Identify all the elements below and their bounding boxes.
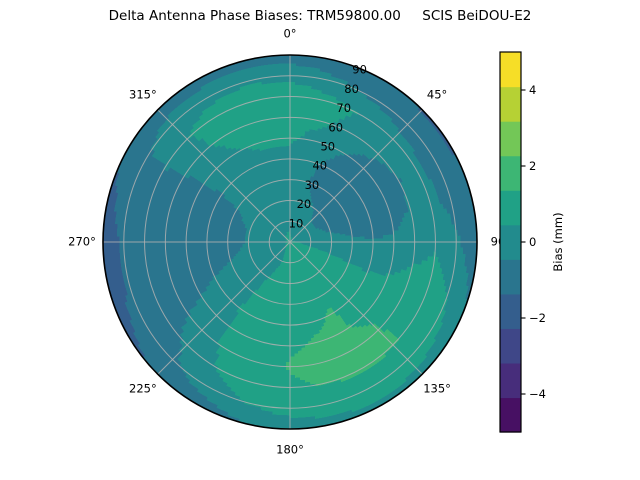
colorbar-band — [500, 121, 521, 156]
radial-tick-20: 20 — [297, 197, 312, 211]
radial-tick-70: 70 — [336, 101, 351, 115]
colorbar-band — [500, 225, 521, 260]
colorbar-band — [500, 87, 521, 122]
colorbar-band — [500, 259, 521, 294]
theta-tick-270: 270° — [68, 235, 96, 249]
colorbar-tick-label-0: 0 — [529, 235, 536, 249]
theta-tick-45: 45° — [427, 87, 447, 101]
colorbar-band — [500, 294, 521, 329]
theta-tick-0: 0° — [283, 27, 296, 41]
polar-grid — [103, 55, 477, 429]
theta-tick-180: 180° — [276, 443, 304, 457]
radial-tick-90: 90 — [352, 63, 367, 77]
radial-tick-10: 10 — [289, 216, 304, 230]
page-title: Delta Antenna Phase Biases: TRM59800.00 … — [0, 8, 640, 24]
colorbar-band — [500, 328, 521, 363]
colorbar: 420−2−4 — [500, 52, 546, 433]
colorbar-band — [500, 52, 521, 87]
colorbar-tick-label-2: 2 — [529, 159, 536, 173]
colorbar-tick-label-neg4: −4 — [529, 387, 546, 401]
radial-tick-60: 60 — [328, 120, 343, 134]
theta-tick-225: 225° — [129, 382, 157, 396]
colorbar-tick-label-4: 4 — [529, 83, 536, 97]
theta-tick-135: 135° — [423, 382, 451, 396]
colorbar-band — [500, 363, 521, 398]
radial-tick-40: 40 — [312, 159, 327, 173]
colorbar-tick-label-neg2: −2 — [529, 311, 546, 325]
colorbar-band — [500, 397, 521, 432]
colorbar-band — [500, 156, 521, 191]
radial-tick-30: 30 — [305, 178, 320, 192]
theta-tick-315: 315° — [129, 87, 157, 101]
polar-plot: 0°45°90135°180°225°270°315° 102030405060… — [0, 0, 640, 480]
figure-canvas: Delta Antenna Phase Biases: TRM59800.00 … — [0, 0, 640, 480]
colorbar-band — [500, 190, 521, 225]
radial-tick-80: 80 — [344, 82, 359, 96]
radial-tick-50: 50 — [320, 140, 335, 154]
colorbar-axis-label: Bias (mm) — [551, 212, 565, 271]
